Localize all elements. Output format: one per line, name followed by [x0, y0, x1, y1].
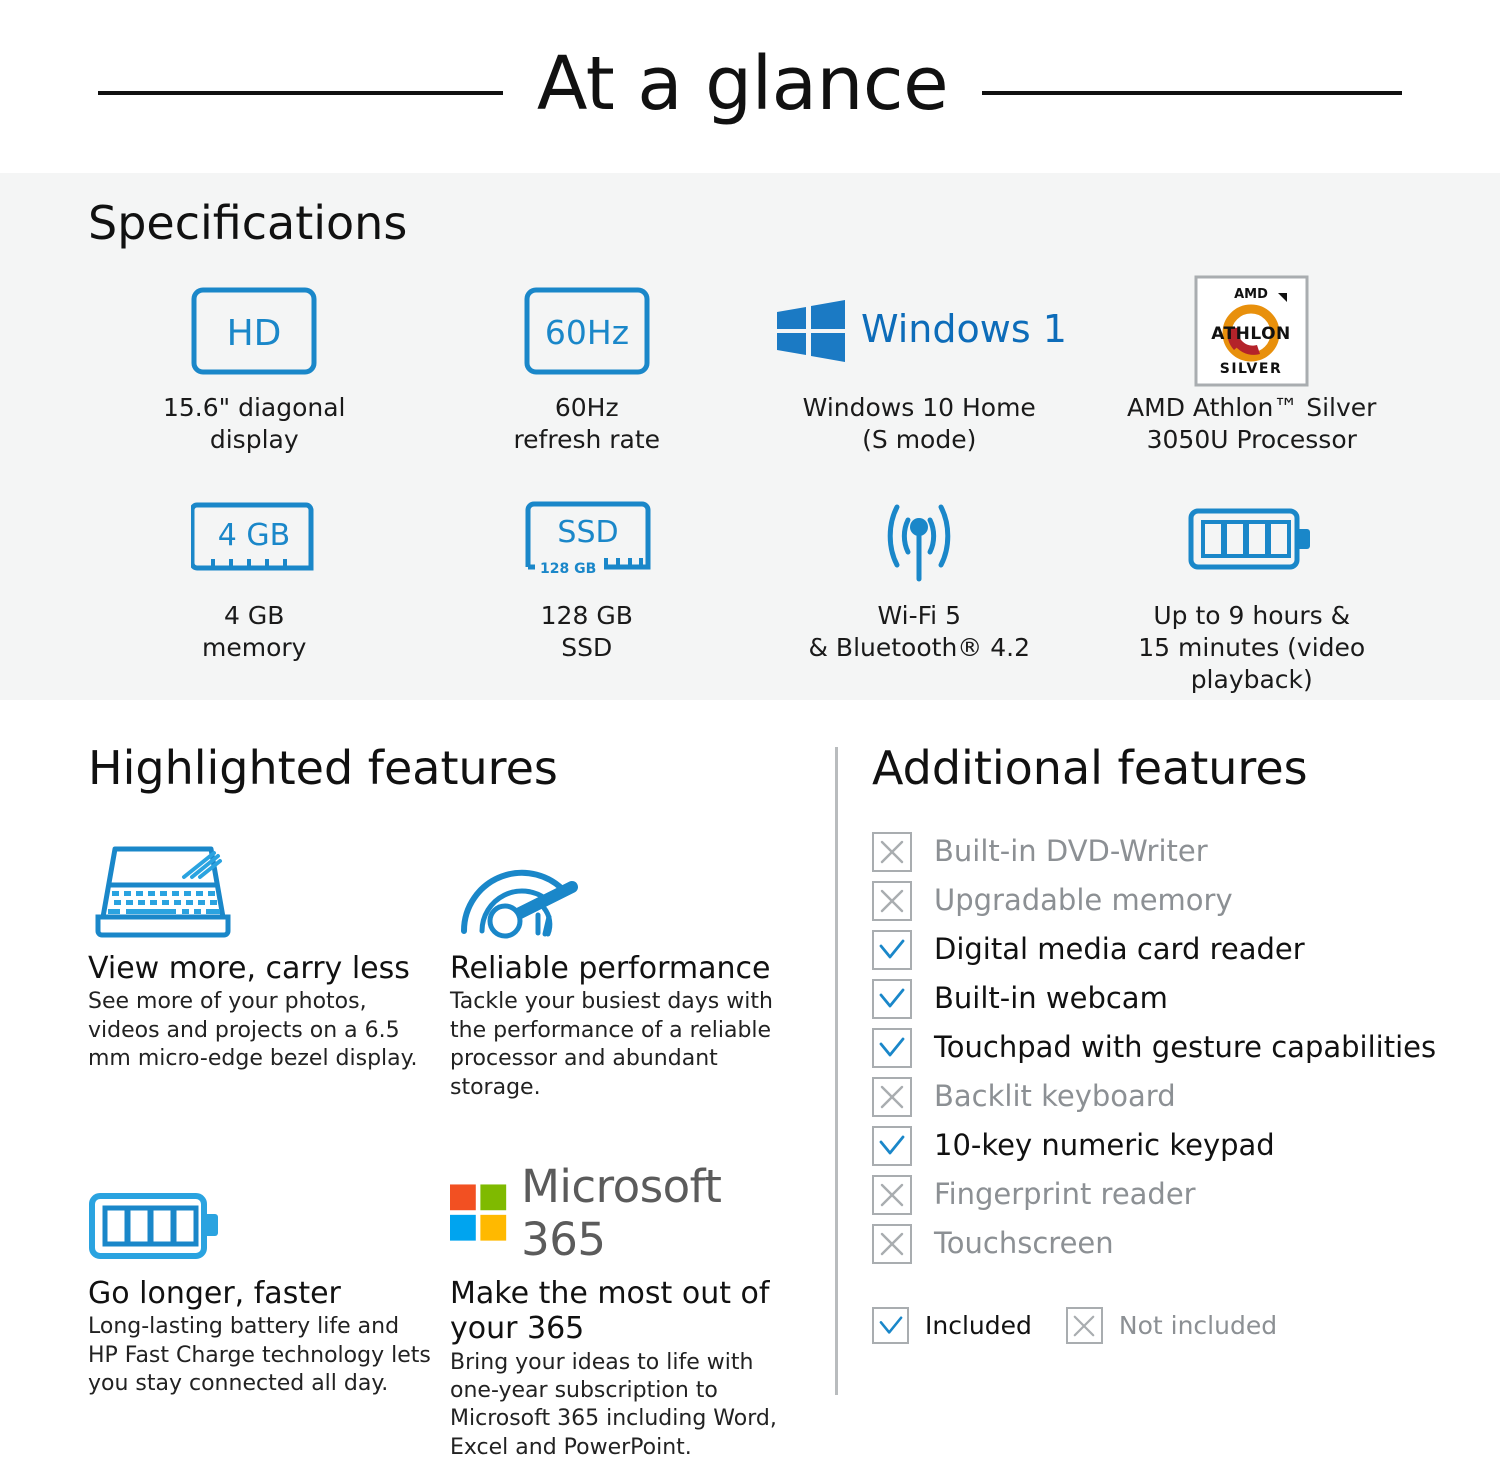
feature-reliable-performance: Reliable performance Tackle your busiest… — [450, 829, 812, 1102]
legend: Included Not included — [872, 1307, 1311, 1344]
microsoft-365-logo-text: Microsoft 365 — [521, 1160, 796, 1266]
lower-section: Highlighted features — [0, 700, 1500, 1395]
specifications-panel: Specifications HD 15.6" diagonal display… — [0, 173, 1500, 700]
list-item-label: Backlit keyboard — [934, 1082, 1176, 1111]
specifications-grid: HD 15.6" diagonal display 60Hz 60Hz refr… — [88, 276, 1418, 696]
spec-item-os: Windows 10 Windows 10 Home (S mode) — [753, 276, 1086, 456]
feature-heading: View more, carry less — [88, 951, 434, 986]
cross-icon — [1066, 1307, 1103, 1344]
feature-go-longer: Go longer, faster Long-lasting battery l… — [88, 1154, 450, 1462]
hd-display-icon: HD — [191, 276, 317, 386]
spec-label-memory: 4 GB memory — [202, 600, 306, 664]
spec-item-wireless: Wi-Fi 5 & Bluetooth® 4.2 — [753, 484, 1086, 696]
feature-body: Long-lasting battery life and HP Fast Ch… — [88, 1313, 434, 1398]
check-icon — [872, 1307, 909, 1344]
cross-icon — [872, 881, 912, 921]
spec-label-battery: Up to 9 hours & 15 minutes (video playba… — [1086, 600, 1419, 696]
laptop-icon — [88, 829, 434, 941]
svg-text:ATHLON: ATHLON — [1211, 324, 1291, 344]
additional-features-title: Additional features — [872, 700, 1472, 791]
list-item-label: Touchpad with gesture capabilities — [934, 1033, 1436, 1062]
list-item[interactable]: Touchscreen — [872, 1219, 1472, 1268]
spec-item-storage: SSD 128 GB 128 GB SSD — [421, 484, 754, 696]
cross-icon — [872, 832, 912, 872]
list-item-label: Touchscreen — [934, 1229, 1114, 1258]
additional-features-column: Additional features Built-in DVD-Writer … — [872, 700, 1472, 1268]
feature-body: See more of your photos, videos and proj… — [88, 988, 434, 1073]
hd-badge-text: HD — [227, 313, 282, 354]
ssd-icon: SSD 128 GB — [522, 484, 652, 594]
page-title: At a glance — [537, 47, 948, 121]
spec-item-processor: AMD ATHLON SILVER AMD Athlon™ Silver 305… — [1086, 276, 1419, 456]
check-icon — [872, 979, 912, 1019]
battery-icon — [88, 1154, 434, 1266]
windows-logo-text: Windows 10 — [861, 307, 1069, 351]
header-rule-right — [982, 91, 1402, 95]
feature-heading: Make the most out of your 365 — [450, 1276, 796, 1347]
microsoft-365-logo-icon: Microsoft 365 — [450, 1154, 796, 1266]
legend-not-included-label: Not included — [1119, 1311, 1277, 1340]
page-header: At a glance — [0, 0, 1500, 173]
check-icon — [872, 1126, 912, 1166]
cross-icon — [872, 1175, 912, 1215]
specifications-title: Specifications — [88, 200, 407, 246]
wifi-icon — [856, 484, 982, 594]
cross-icon — [872, 1224, 912, 1264]
svg-text:SILVER: SILVER — [1220, 361, 1282, 377]
cross-icon — [872, 1077, 912, 1117]
spec-label-storage: 128 GB SSD — [541, 600, 633, 664]
spec-label-os: Windows 10 Home (S mode) — [803, 392, 1036, 456]
list-item[interactable]: Fingerprint reader — [872, 1170, 1472, 1219]
list-item-label: Built-in DVD-Writer — [934, 837, 1208, 866]
svg-text:AMD: AMD — [1234, 287, 1268, 302]
list-item[interactable]: 10-key numeric keypad — [872, 1121, 1472, 1170]
list-item[interactable]: Built-in webcam — [872, 974, 1472, 1023]
spec-label-refresh-rate: 60Hz refresh rate — [513, 392, 660, 456]
spec-item-refresh-rate: 60Hz 60Hz refresh rate — [421, 276, 754, 456]
highlighted-features-grid: View more, carry less See more of your p… — [88, 829, 818, 1462]
feature-microsoft-365: Microsoft 365 Make the most out of your … — [450, 1154, 812, 1462]
refresh-rate-badge-text: 60Hz — [545, 313, 629, 352]
spec-label-display: 15.6" diagonal display — [163, 392, 346, 456]
spec-item-memory: 4 GB 4 GB memory — [88, 484, 421, 696]
list-item[interactable]: Built-in DVD-Writer — [872, 827, 1472, 876]
battery-icon — [1187, 484, 1317, 594]
check-icon — [872, 1028, 912, 1068]
feature-view-more: View more, carry less See more of your p… — [88, 829, 450, 1102]
refresh-rate-icon: 60Hz — [524, 276, 650, 386]
list-item[interactable]: Upgradable memory — [872, 876, 1472, 925]
list-item-label: Upgradable memory — [934, 886, 1233, 915]
spec-label-processor: AMD Athlon™ Silver 3050U Processor — [1127, 392, 1376, 456]
list-item-label: Digital media card reader — [934, 935, 1305, 964]
feature-heading: Reliable performance — [450, 951, 796, 986]
header-rule-left — [98, 91, 503, 95]
column-divider — [835, 747, 838, 1395]
amd-athlon-silver-badge-icon: AMD ATHLON SILVER — [1194, 276, 1309, 386]
feature-body: Bring your ideas to life with one-year s… — [450, 1349, 796, 1462]
list-item[interactable]: Digital media card reader — [872, 925, 1472, 974]
check-icon — [872, 930, 912, 970]
list-item-label: Built-in webcam — [934, 984, 1168, 1013]
list-item-label: 10-key numeric keypad — [934, 1131, 1275, 1160]
list-item-label: Fingerprint reader — [934, 1180, 1196, 1209]
highlighted-features-title: Highlighted features — [88, 700, 818, 791]
list-item[interactable]: Touchpad with gesture capabilities — [872, 1023, 1472, 1072]
spec-label-wireless: Wi-Fi 5 & Bluetooth® 4.2 — [808, 600, 1030, 664]
memory-badge-text: 4 GB — [218, 518, 290, 553]
ssd-badge-text: SSD — [557, 515, 618, 550]
memory-icon: 4 GB — [191, 484, 317, 594]
speedometer-icon — [450, 829, 796, 941]
highlighted-features-column: Highlighted features — [88, 700, 818, 1462]
windows-logo-icon: Windows 10 — [769, 276, 1069, 386]
feature-body: Tackle your busiest days with the perfor… — [450, 988, 796, 1102]
additional-features-list: Built-in DVD-Writer Upgradable memory Di… — [872, 827, 1472, 1268]
legend-included-label: Included — [925, 1311, 1032, 1340]
feature-heading: Go longer, faster — [88, 1276, 434, 1311]
ssd-capacity-text: 128 GB — [540, 561, 596, 577]
spec-item-battery: Up to 9 hours & 15 minutes (video playba… — [1086, 484, 1419, 696]
list-item[interactable]: Backlit keyboard — [872, 1072, 1472, 1121]
spec-item-display: HD 15.6" diagonal display — [88, 276, 421, 456]
